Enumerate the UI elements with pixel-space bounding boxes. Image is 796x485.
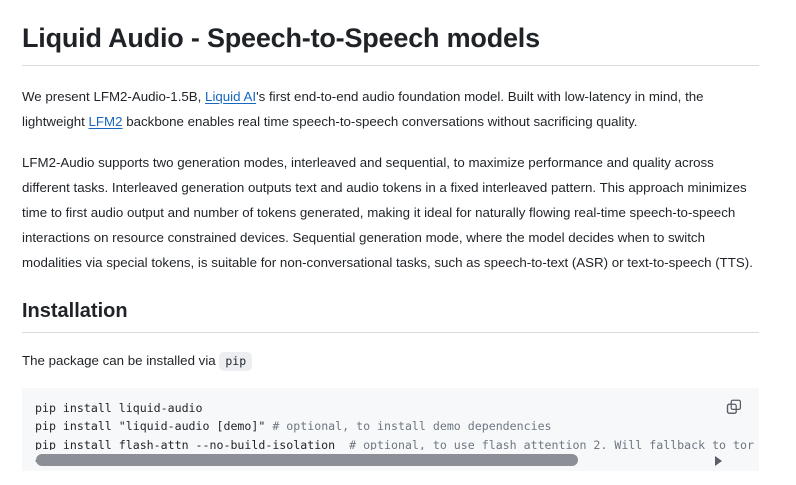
code-line-2: pip install "liquid-audio [demo]" (35, 419, 272, 433)
page-title: Liquid Audio - Speech-to-Speech models (22, 0, 759, 65)
scrollbar-thumb[interactable] (36, 454, 578, 466)
code-block-text: pip install liquid-audio pip install "li… (35, 399, 754, 455)
lfm2-link[interactable]: LFM2 (89, 114, 123, 129)
inline-code-pip: pip (219, 352, 252, 371)
intro-text-part-3: backbone enables real time speech-to-spe… (123, 114, 638, 129)
code-line-2-comment: # optional, to install demo dependencies (272, 419, 551, 433)
code-line-1: pip install liquid-audio (35, 401, 203, 415)
page-right-gutter (781, 0, 796, 485)
document-page: Liquid Audio - Speech-to-Speech models W… (0, 0, 796, 485)
installation-intro: The package can be installed via pip (22, 333, 759, 372)
copy-icon (726, 399, 742, 415)
triangle-right-icon (715, 456, 722, 466)
copy-code-button[interactable] (721, 395, 747, 419)
scrollbar-right-arrow[interactable] (710, 450, 726, 471)
document-content: Liquid Audio - Speech-to-Speech models W… (0, 0, 781, 485)
installation-intro-text: The package can be installed via (22, 353, 216, 368)
description-paragraph: LFM2-Audio supports two generation modes… (22, 134, 759, 275)
liquid-ai-link[interactable]: Liquid AI (205, 89, 256, 104)
intro-paragraph: We present LFM2-Audio-1.5B, Liquid AI's … (22, 66, 759, 134)
code-block-horizontal-scrollbar[interactable] (22, 450, 759, 471)
installation-heading: Installation (22, 275, 759, 332)
intro-text-part-1: We present LFM2-Audio-1.5B, (22, 89, 205, 104)
